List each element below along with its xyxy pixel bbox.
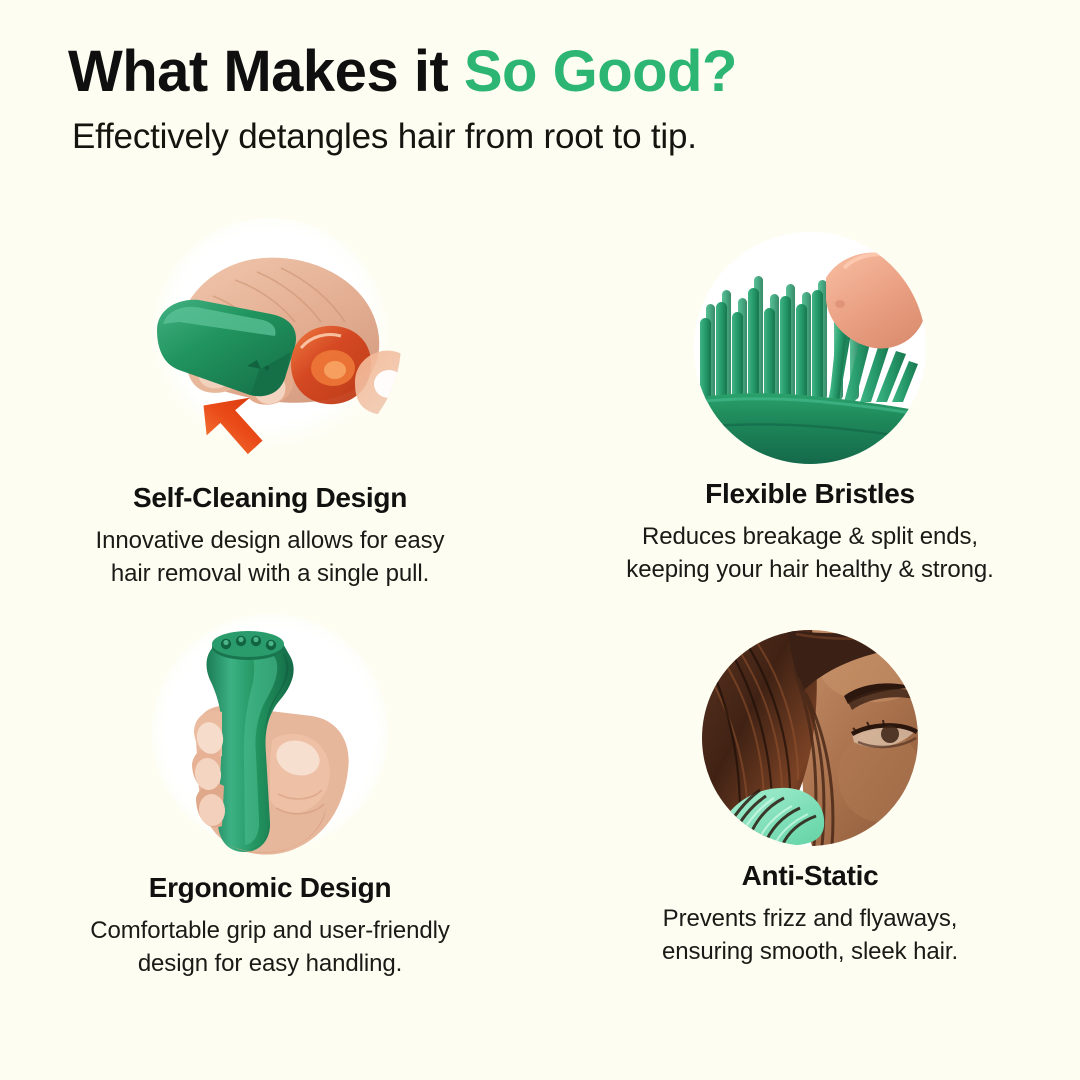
feature-title-anti-static: Anti-Static <box>742 860 879 892</box>
feature-title-flexible-bristles: Flexible Bristles <box>705 478 915 510</box>
feature-card-self-cleaning: Self-Cleaning Design Innovative design a… <box>0 218 540 608</box>
page-title: What Makes it So Good? <box>68 42 1080 103</box>
hand-pulling-cleaning-ring-illustration <box>139 218 401 468</box>
feature-card-anti-static: Anti-Static Prevents frizz and flyaways,… <box>540 608 1080 998</box>
feature-title-ergonomic: Ergonomic Design <box>149 872 392 904</box>
header: What Makes it So Good? Effectively detan… <box>0 42 1080 157</box>
feature-description-line: Innovative design allows for easy <box>96 524 445 557</box>
infographic-page: What Makes it So Good? Effectively detan… <box>0 0 1080 1080</box>
page-title-main: What Makes it <box>68 39 464 104</box>
feature-image-flexible-bristles <box>694 232 926 464</box>
feature-description-line: Reduces breakage & split ends, <box>626 520 993 553</box>
page-title-accent: So Good? <box>464 39 737 104</box>
feature-description-self-cleaning: Innovative design allows for easy hair r… <box>96 524 445 590</box>
page-subtitle: Effectively detangles hair from root to … <box>72 117 1080 157</box>
feature-description-line: hair removal with a single pull. <box>96 557 445 590</box>
feature-grid: Self-Cleaning Design Innovative design a… <box>0 218 1080 998</box>
feature-description-line: design for easy handling. <box>90 947 449 980</box>
feature-description-line: Comfortable grip and user-friendly <box>90 914 449 947</box>
feature-description-line: ensuring smooth, sleek hair. <box>662 935 958 968</box>
feature-image-ergonomic <box>152 612 388 858</box>
feature-description-anti-static: Prevents frizz and flyaways, ensuring sm… <box>662 902 958 968</box>
woman-brushing-hair-illustration <box>702 630 918 846</box>
feature-description-ergonomic: Comfortable grip and user-friendly desig… <box>90 914 449 980</box>
feature-card-ergonomic: Ergonomic Design Comfortable grip and us… <box>0 608 540 998</box>
feature-image-anti-static <box>702 630 918 846</box>
feature-description-flexible-bristles: Reduces breakage & split ends, keeping y… <box>626 520 993 586</box>
feature-description-line: Prevents frizz and flyaways, <box>662 902 958 935</box>
feature-description-line: keeping your hair healthy & strong. <box>626 553 993 586</box>
feature-title-self-cleaning: Self-Cleaning Design <box>133 482 407 514</box>
hand-gripping-handle-illustration <box>152 612 388 858</box>
feature-image-self-cleaning <box>139 218 401 468</box>
feature-card-flexible-bristles: Flexible Bristles Reduces breakage & spl… <box>540 218 1080 608</box>
finger-pressing-bristles-illustration <box>694 232 926 464</box>
